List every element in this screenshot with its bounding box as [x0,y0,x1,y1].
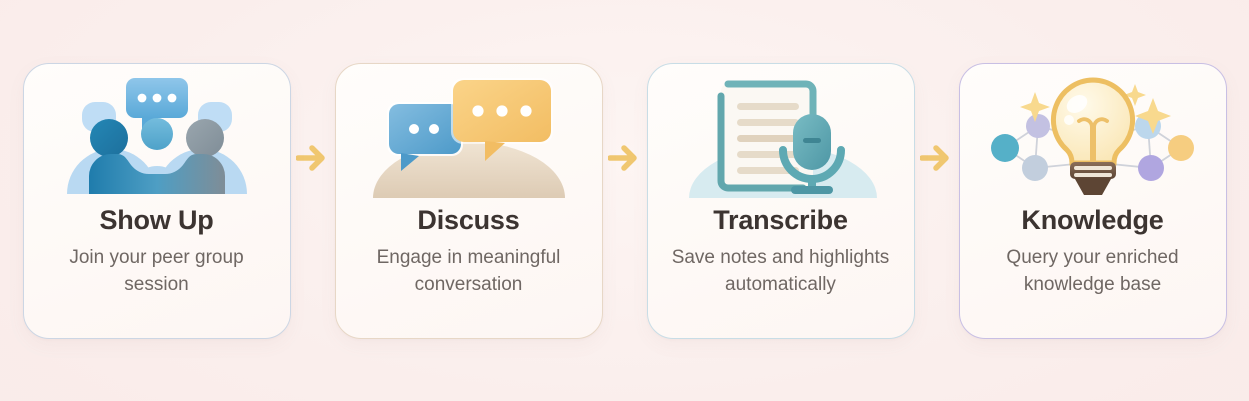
step-flow-container: Show Up Join your peer group session [0,0,1249,401]
step-card-knowledge[interactable]: Knowledge Query your enriched knowledge … [959,63,1227,339]
step-card-show-up[interactable]: Show Up Join your peer group session [23,63,291,339]
group-people-speech-bubble-icon [47,76,267,198]
step-description: Join your peer group session [24,245,290,299]
document-microphone-icon [671,76,891,198]
arrow-right-icon [296,141,330,175]
step-description: Engage in meaningful conversation [336,245,602,299]
flow-diagram-stage: Show Up Join your peer group session [0,0,1249,401]
step-card-discuss[interactable]: Discuss Engage in meaningful conversatio… [335,63,603,339]
connector-1 [291,63,335,339]
connector-3 [915,63,959,339]
connector-2 [603,63,647,339]
two-speech-bubbles-icon [359,76,579,198]
step-card-transcribe[interactable]: Transcribe Save notes and highlights aut… [647,63,915,339]
step-title: Discuss [417,206,519,236]
step-description: Query your enriched knowledge base [960,245,1226,299]
step-description: Save notes and highlights automatically [648,245,914,299]
arrow-right-icon [920,141,954,175]
step-title: Show Up [99,206,213,236]
lightbulb-network-icon [983,76,1203,198]
step-title: Transcribe [713,206,848,236]
arrow-right-icon [608,141,642,175]
step-title: Knowledge [1021,206,1163,236]
